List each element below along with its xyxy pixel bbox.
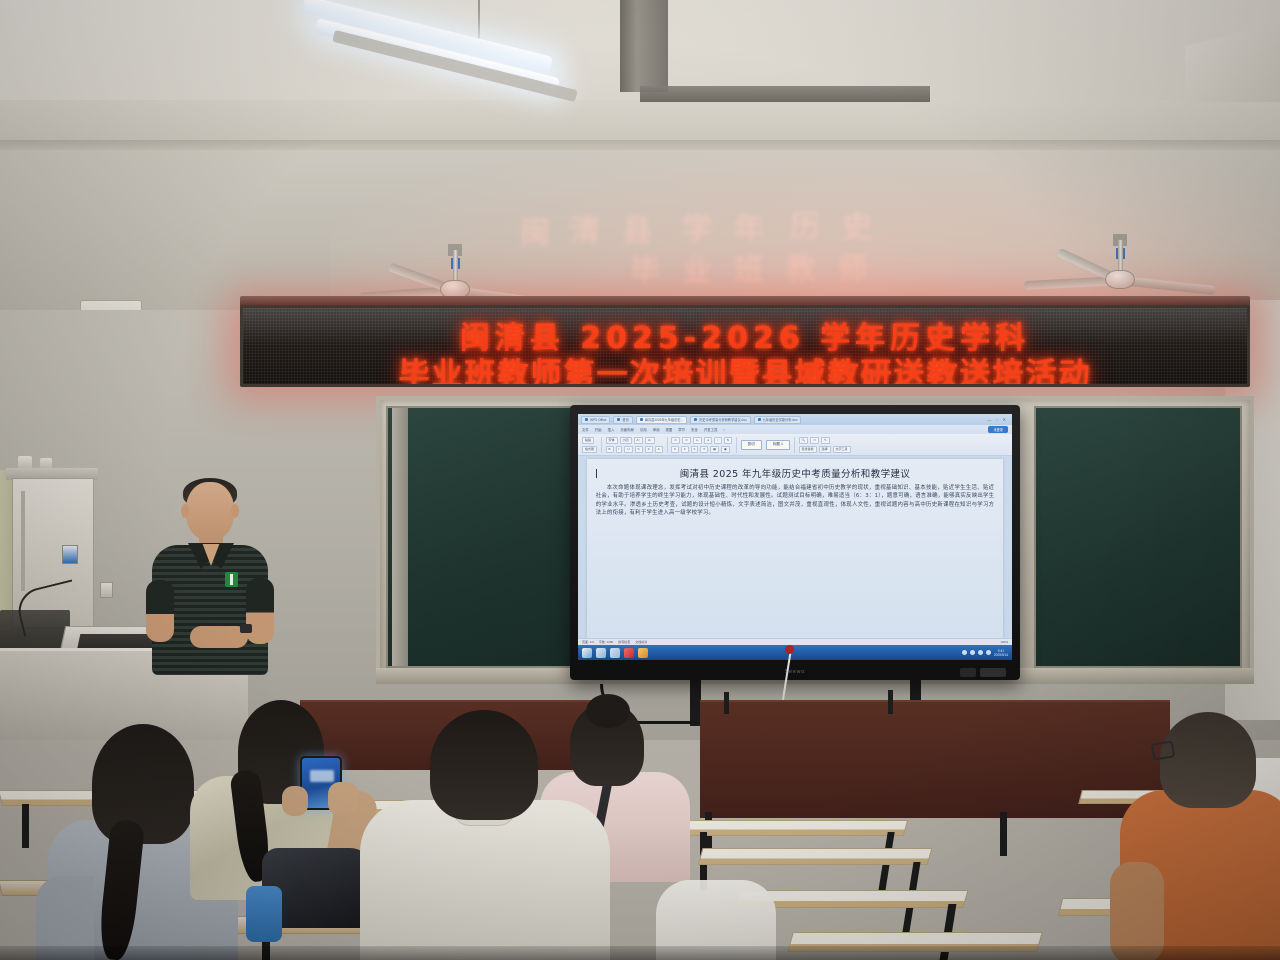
font-size-select[interactable]: 小四 [620, 437, 632, 444]
tab-document-2[interactable]: 历史中考质量分析和教学建议.doc [690, 416, 750, 424]
menu-item-references[interactable]: 引用 [640, 427, 647, 432]
tab-label: WPS Office [590, 418, 606, 422]
desk-surface [674, 820, 909, 836]
led-scrolling-banner: 闽清县 2025-2026 学年历史学科 毕业班教师第一次培训暨县域教研送教送培… [240, 305, 1250, 387]
underline-icon[interactable]: U [624, 446, 632, 453]
network-icon[interactable] [962, 650, 967, 655]
close-icon[interactable]: ✕ [1003, 417, 1006, 422]
pointer-tip [785, 645, 794, 654]
ribbon-label-text-tools[interactable]: 文字工具 [833, 446, 851, 453]
bench-post [724, 692, 729, 714]
numbered-list-icon[interactable]: ≕ [682, 437, 691, 444]
shrink-font-icon[interactable]: A↓ [645, 437, 655, 444]
led-banner-line-2: 毕业班教师第一次培训暨县域教研送教送培活动 [243, 349, 1247, 387]
select-icon[interactable]: ▭ [810, 437, 819, 444]
ribbon-divider [736, 437, 737, 453]
chalkboard-panel-left [386, 406, 586, 668]
volume-icon[interactable] [970, 650, 975, 655]
ribbon-label-select[interactable]: 选择 [819, 446, 831, 453]
tab-label: 九年级历史试卷分析.doc [763, 417, 798, 422]
menu-item-security[interactable]: 安全 [691, 427, 698, 432]
menu-item-sections[interactable]: 章节 [678, 427, 685, 432]
app-ribbon[interactable]: 粘贴 格式刷 宋体 小四 A↑ A↓ [578, 434, 1012, 456]
line-spacing-icon[interactable]: ↕ [714, 437, 722, 444]
wps-icon[interactable] [624, 648, 634, 658]
highlight-icon[interactable]: A [645, 446, 653, 453]
menu-item-file[interactable]: 文件 [582, 427, 589, 432]
login-button[interactable]: 未登录 [988, 426, 1008, 433]
display-indicator [960, 668, 976, 677]
document-body-text: 本次命题体现课改理念，发挥考试对初中历史课程的改革的导向功能，能结合福建省初中历… [596, 484, 995, 518]
bullet-list-icon[interactable]: ≔ [671, 437, 680, 444]
presenter-ear [231, 504, 239, 518]
wps-icon [585, 418, 588, 421]
paste-button[interactable]: 粘贴 [582, 437, 594, 444]
bench-leg [1000, 812, 1007, 856]
presenter-arm-right [246, 578, 274, 644]
ribbon-group-clipboard[interactable]: 粘贴 格式刷 [582, 437, 597, 453]
doc-icon [640, 418, 643, 421]
presenter-arm-left [146, 580, 174, 642]
desk-surface [698, 848, 933, 865]
windows-taskbar[interactable]: 9:41 2025/9/14 [578, 645, 1012, 660]
attendee-gray-shirt-head [92, 724, 194, 844]
align-center-icon[interactable]: ≡ [681, 446, 689, 453]
desk-leg [22, 804, 29, 848]
bench-post [888, 690, 893, 714]
tab-label: 首页 [622, 417, 628, 422]
find-icon[interactable]: 🔍 [799, 437, 809, 444]
file-explorer-icon[interactable] [596, 648, 606, 658]
status-word-count: 字数: 1280 [599, 640, 613, 644]
phone-screen-glow [310, 770, 334, 782]
ribbon-divider [794, 437, 795, 453]
wps-office-window[interactable]: WPS Office 首页 闽清县2025年九年级历史... 历史中考质量分析和… [578, 414, 1012, 660]
ribbon-divider [667, 437, 668, 453]
grow-font-icon[interactable]: A↑ [634, 437, 644, 444]
indent-decrease-icon[interactable]: ⇤ [693, 437, 702, 444]
eyeglasses [1151, 740, 1175, 760]
document-canvas[interactable]: 闽清县 2025 年九年级历史中考质量分析和教学建议 本次命题体现课改理念，发挥… [578, 456, 1012, 638]
presenter-ear [181, 504, 189, 518]
tab-wps-office[interactable]: WPS Office [581, 416, 610, 424]
menu-item-dev-tools[interactable]: 开发工具 [704, 427, 718, 432]
display-ir-sensor [980, 668, 1006, 677]
menu-item-home[interactable]: 开始 [595, 427, 602, 432]
taskbar-tray[interactable]: 9:41 2025/9/14 [962, 649, 1008, 657]
justify-icon[interactable]: ≡ [700, 446, 708, 453]
battery-icon[interactable] [986, 650, 991, 655]
presenter-shirt-logo [225, 572, 238, 587]
text-tools-icon[interactable]: ✎ [821, 437, 830, 444]
display-screen[interactable]: WPS Office 首页 闽清县2025年九年级历史... 历史中考质量分析和… [578, 414, 1012, 660]
app-status-bar[interactable]: 页面: 1/3 字数: 1280 拼写检查 文档校对 100% [578, 638, 1012, 645]
start-icon[interactable] [582, 648, 592, 658]
window-controls[interactable]: — ▫ ✕ [987, 417, 1009, 422]
attendee-hair-bun [586, 694, 630, 728]
classroom-photo-scene: 闽 清 县 学 年 历 史 毕 业 班 教 师 闽清县 2025-2 [0, 0, 1280, 960]
menu-item-view[interactable]: 视图 [665, 427, 672, 432]
fan-rod [453, 250, 458, 284]
minimize-icon[interactable]: — [987, 417, 991, 422]
tab-label: 闽清县2025年九年级历史... [645, 417, 683, 422]
ribbon-group-editing[interactable]: 🔍 ▭ ✎ 查找替换 选择 文字工具 [799, 437, 851, 453]
italic-icon[interactable]: I [616, 446, 623, 453]
app-menu-bar[interactable]: 文件 开始 插入 页面布局 引用 审阅 视图 章节 安全 开发工具 ⌕ 未登录 [578, 425, 1012, 434]
ribbon-divider [601, 437, 602, 453]
ribbon-group-font[interactable]: 宋体 小四 A↑ A↓ B I U S A A [606, 437, 663, 453]
status-spellcheck[interactable]: 拼写检查 [618, 640, 630, 644]
foreground-shadow [0, 946, 1280, 960]
style-normal-box[interactable]: 剪切 [741, 440, 762, 450]
status-proofread[interactable]: 文档校对 [635, 640, 647, 644]
search-icon[interactable]: ⌕ [723, 428, 725, 432]
fan-motor [1105, 270, 1135, 289]
status-page-number: 页面: 1/3 [582, 640, 594, 644]
ceiling-duct [620, 0, 668, 92]
maximize-icon[interactable]: ▫ [996, 417, 997, 422]
style-heading-box[interactable]: 标题 1 [766, 440, 790, 450]
doc-icon [694, 418, 697, 421]
media-icon[interactable] [638, 648, 648, 658]
fan-rod [1118, 240, 1123, 274]
font-name-select[interactable]: 宋体 [606, 437, 618, 444]
tab-label: 历史中考质量分析和教学建议.doc [699, 417, 746, 422]
status-right-group[interactable]: 100% [1000, 640, 1008, 644]
browser-icon[interactable] [610, 648, 620, 658]
zoom-level[interactable]: 100% [1000, 640, 1008, 644]
tab-document-3[interactable]: 九年级历史试卷分析.doc [754, 416, 802, 424]
wall-outlet [100, 582, 113, 598]
ribbon-group-paragraph[interactable]: ≔ ≕ ⇤ ⇥ ↕ ⇅ ≡ ≡ ≡ ≡ ▦ [671, 437, 732, 453]
align-right-icon[interactable]: ≡ [691, 446, 699, 453]
blue-cloth-item [246, 886, 282, 942]
strikethrough-icon[interactable]: S [635, 446, 643, 453]
presenter-wristwatch [240, 624, 252, 633]
attendee-hand [282, 786, 308, 816]
attendee-orange-shirt-head [1160, 712, 1256, 808]
cabinet-label [62, 545, 78, 564]
ceiling-beam [640, 86, 930, 102]
indent-increase-icon[interactable]: ⇥ [704, 437, 713, 444]
format-painter-button[interactable]: 格式刷 [582, 446, 597, 453]
doc-icon [758, 418, 761, 421]
tab-active-document[interactable]: 闽清县2025年九年级历史... [636, 416, 687, 424]
attendee-white-shirt-head [430, 710, 538, 820]
font-color-icon[interactable]: A [655, 446, 663, 453]
interactive-display[interactable]: WPS Office 首页 闽清县2025年九年级历史... 历史中考质量分析和… [570, 405, 1020, 680]
document-page[interactable]: 闽清县 2025 年九年级历史中考质量分析和教学建议 本次命题体现课改理念，发挥… [587, 459, 1004, 638]
chalkboard-slide-rail [392, 408, 408, 666]
align-left-icon[interactable]: ≡ [671, 446, 679, 453]
document-title: 闽清县 2025 年九年级历史中考质量分析和教学建议 [596, 466, 995, 480]
taskbar-clock[interactable]: 9:41 2025/9/14 [994, 649, 1008, 657]
text-cursor [596, 469, 597, 478]
ime-icon[interactable] [978, 650, 983, 655]
tab-home[interactable]: 首页 [613, 416, 632, 424]
attendee-hand [328, 782, 358, 816]
menu-right-group[interactable]: 未登录 [988, 426, 1008, 433]
ribbon-label-find[interactable]: 查找替换 [799, 446, 817, 453]
sort-icon[interactable]: ⇅ [724, 437, 733, 444]
home-icon [617, 418, 620, 421]
clock-date: 2025/9/14 [994, 653, 1008, 657]
chalkboard-panel-right [1034, 406, 1242, 668]
menu-item-page-layout[interactable]: 页面布局 [620, 427, 634, 432]
menu-item-review[interactable]: 审阅 [653, 427, 660, 432]
menu-item-insert[interactable]: 插入 [608, 427, 615, 432]
bold-icon[interactable]: B [606, 446, 614, 453]
shading-icon[interactable]: ▦ [710, 446, 719, 453]
borders-icon[interactable]: ▣ [721, 446, 730, 453]
app-tab-bar[interactable]: WPS Office 首页 闽清县2025年九年级历史... 历史中考质量分析和… [578, 414, 1012, 425]
